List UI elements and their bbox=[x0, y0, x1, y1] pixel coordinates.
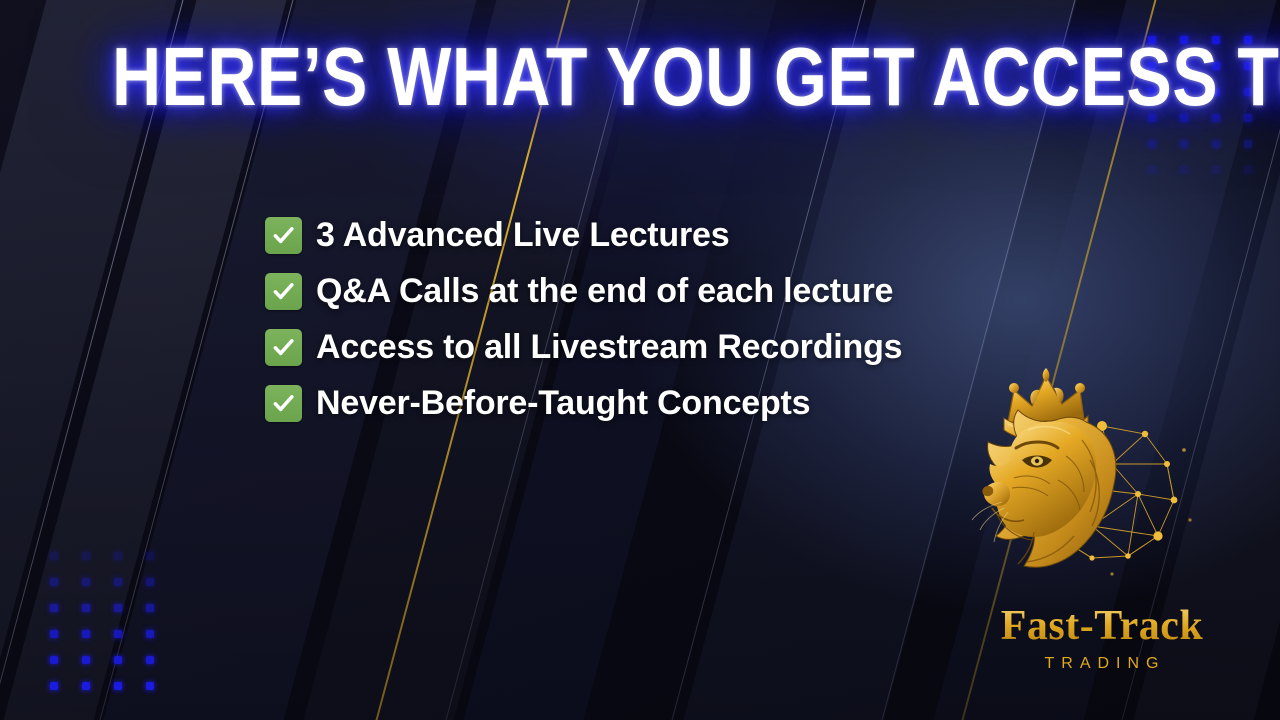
benefit-label: 3 Advanced Live Lectures bbox=[316, 216, 729, 255]
benefits-list: 3 Advanced Live Lectures Q&A Calls at th… bbox=[265, 212, 902, 436]
check-square-icon bbox=[265, 273, 302, 310]
benefit-label: Access to all Livestream Recordings bbox=[316, 328, 902, 367]
check-square-icon bbox=[265, 385, 302, 422]
list-item: Q&A Calls at the end of each lecture bbox=[265, 268, 902, 314]
brand-logo: Fast-Track TRADING bbox=[962, 360, 1252, 680]
list-item: Access to all Livestream Recordings bbox=[265, 324, 902, 370]
crowned-lion-head-icon bbox=[962, 360, 1212, 590]
lion-head-shape bbox=[972, 410, 1116, 567]
dot-grid-decoration bbox=[50, 552, 154, 690]
promo-slide: HERE’S WHAT YOU GET ACCESS TO 3 Advanced… bbox=[0, 0, 1280, 720]
check-square-icon bbox=[265, 329, 302, 366]
list-item: 3 Advanced Live Lectures bbox=[265, 212, 902, 258]
list-item: Never-Before-Taught Concepts bbox=[265, 380, 902, 426]
benefit-label: Q&A Calls at the end of each lecture bbox=[316, 272, 893, 311]
brand-name: Fast-Track bbox=[962, 602, 1242, 650]
check-square-icon bbox=[265, 217, 302, 254]
benefit-label: Never-Before-Taught Concepts bbox=[316, 384, 810, 423]
brand-tagline: TRADING bbox=[962, 652, 1242, 676]
page-title: HERE’S WHAT YOU GET ACCESS TO bbox=[112, 34, 1280, 120]
wordmark: Fast-Track TRADING bbox=[962, 602, 1242, 676]
